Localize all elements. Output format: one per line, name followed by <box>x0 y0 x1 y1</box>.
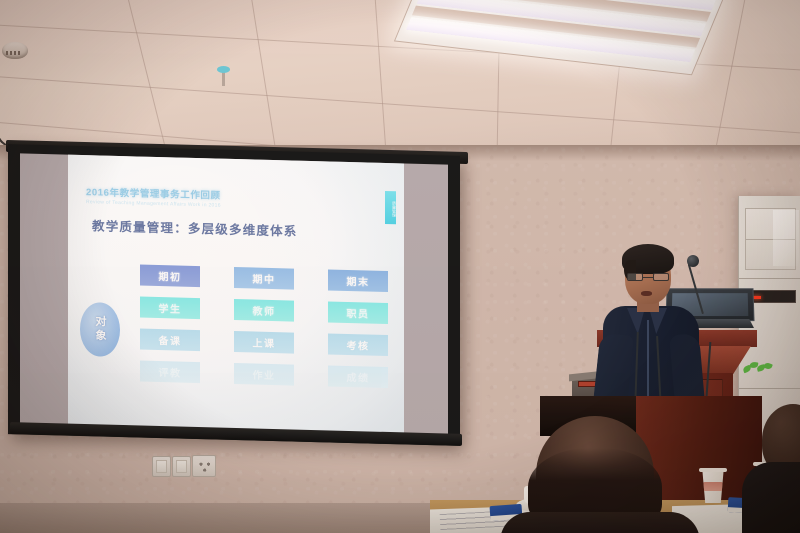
matrix-row: 期初 期中 期末 <box>140 265 390 293</box>
matrix-cell: 教师 <box>234 299 294 322</box>
slide-matrix: 期初 期中 期末 学生 教师 职员 备课 上课 考核 <box>140 265 390 400</box>
smoke-detector <box>2 42 28 59</box>
fire-sprinkler <box>222 70 225 86</box>
matrix-cell: 成绩 <box>328 365 388 388</box>
matrix-cell: 学生 <box>140 297 200 320</box>
projected-slide: 2016年教学管理事务工作回顾 Review of Teaching Manag… <box>68 155 404 436</box>
matrix-row: 学生 教师 职员 <box>140 297 390 325</box>
projection-screen: 2016年教学管理事务工作回顾 Review of Teaching Manag… <box>8 144 460 446</box>
audience-shoulders <box>500 512 700 533</box>
fluorescent-light-panel <box>394 0 726 75</box>
paper-cup-rim <box>699 468 727 472</box>
axis-label-text: 对象 <box>92 315 108 343</box>
matrix-cell: 作业 <box>234 363 294 386</box>
slide-side-tab: 质量管理 <box>385 191 396 224</box>
matrix-cell: 职员 <box>328 301 388 324</box>
audience-shoulders <box>742 462 800 533</box>
matrix-cell: 评教 <box>140 361 200 384</box>
slide-heading: 教学质量管理：多层级多维度体系 <box>92 215 298 239</box>
axis-label-oval: 对象 <box>80 302 120 357</box>
presenter-hair <box>622 244 674 274</box>
matrix-cell: 备课 <box>140 329 200 352</box>
ac-display-panel[interactable] <box>747 290 796 303</box>
ac-seam <box>739 278 800 279</box>
baseboard <box>0 503 470 533</box>
matrix-row: 评教 作业 成绩 <box>140 361 390 389</box>
matrix-cell: 上课 <box>234 331 294 354</box>
screen-surface: 2016年教学管理事务工作回顾 Review of Teaching Manag… <box>20 153 448 436</box>
light-switch[interactable] <box>172 456 191 477</box>
matrix-cell: 考核 <box>328 333 388 356</box>
matrix-cell: 期末 <box>328 269 388 292</box>
power-outlet[interactable] <box>192 455 216 477</box>
eyeglasses-icon <box>627 273 669 281</box>
matrix-row: 备课 上课 考核 <box>140 329 390 357</box>
light-switch[interactable] <box>152 456 171 477</box>
matrix-cell: 期中 <box>234 267 294 290</box>
matrix-cell: 期初 <box>140 265 200 288</box>
outlet-holes <box>197 460 213 474</box>
ac-highlight <box>773 210 799 266</box>
presenter-mouth <box>641 291 652 296</box>
ceiling <box>0 0 800 152</box>
conference-room-photo: 2016年教学管理事务工作回顾 Review of Teaching Manag… <box>0 0 800 533</box>
